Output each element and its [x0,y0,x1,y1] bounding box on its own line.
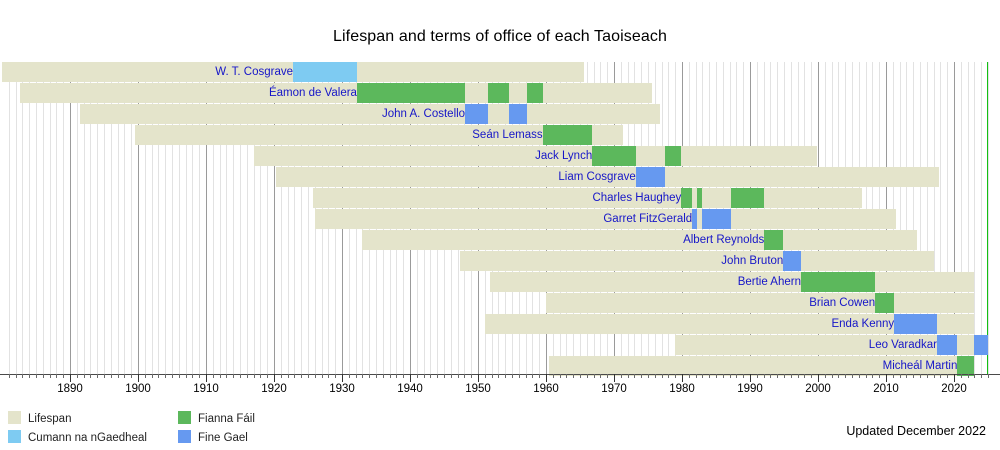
axis-tick-minor [267,374,268,378]
axis-tick-minor [872,374,873,378]
axis-tick-minor [526,374,527,378]
axis-tick-minor [458,374,459,378]
axis-tick-minor [655,374,656,378]
axis-tick-label: 1970 [594,383,634,395]
axis-tick-minor [668,374,669,378]
axis-tick-minor [553,374,554,378]
axis-tick-minor [757,374,758,378]
axis-tick-label: 1930 [322,383,362,395]
timeline-row[interactable]: Bertie Ahern [0,272,1000,292]
row-label: John A. Costello [0,106,468,122]
axis-tick-minor [498,374,499,378]
axis-tick-minor [50,374,51,378]
axis-tick-label: 1950 [458,383,498,395]
timeline-row[interactable]: John A. Costello [0,104,1000,124]
axis-tick-minor [866,374,867,378]
axis-tick-minor [696,374,697,378]
axis-tick-minor [369,374,370,378]
axis-tick-minor [730,374,731,378]
axis-tick-minor [662,374,663,378]
axis-tick-minor [192,374,193,378]
axis-tick-label: 1890 [50,383,90,395]
axis-tick-minor [308,374,309,378]
axis-tick-minor [430,374,431,378]
axis-tick-minor [451,374,452,378]
timeline-row[interactable]: Éamon de Valera [0,83,1000,103]
axis-tick-minor [913,374,914,378]
axis-tick-major [886,374,887,382]
axis-tick-minor [968,374,969,378]
axis-tick-minor [784,374,785,378]
row-label: W. T. Cosgrave [0,64,296,80]
axis-tick-major [546,374,547,382]
axis-tick-minor [16,374,17,378]
axis-tick-minor [22,374,23,378]
legend-label: Lifespan [28,412,71,427]
axis-tick-minor [186,374,187,378]
axis-tick-label: 2020 [934,383,974,395]
axis-tick-minor [492,374,493,378]
axis-tick-minor [770,374,771,378]
term-of-office-bar[interactable] [636,167,665,187]
axis-tick-minor [9,374,10,378]
legend-label: Fine Gael [198,431,248,446]
legend-swatch-icon [178,411,191,424]
axis-tick-minor [152,374,153,378]
axis-tick-minor [512,374,513,378]
axis-tick-minor [43,374,44,378]
axis-tick-label: 1980 [662,383,702,395]
term-of-office-bar[interactable] [702,209,731,229]
axis-tick-minor [213,374,214,378]
legend-label: Cumann na nGaedheal [28,431,147,446]
axis-tick-minor [532,374,533,378]
row-label: Jack Lynch [0,148,595,164]
x-axis: 1890190019101920193019401950196019701980… [0,374,1000,400]
axis-tick-minor [417,374,418,378]
axis-tick-minor [63,374,64,378]
axis-tick-minor [56,374,57,378]
axis-tick-minor [403,374,404,378]
axis-tick-minor [172,374,173,378]
axis-tick-minor [97,374,98,378]
timeline-row[interactable]: Charles Haughey [0,188,1000,208]
axis-tick-minor [111,374,112,378]
term-of-office-bar[interactable] [465,104,488,124]
term-of-office-bar[interactable] [357,83,465,103]
timeline-row[interactable]: Enda Kenny [0,314,1000,334]
timeline-row[interactable]: Garret FitzGerald [0,209,1000,229]
axis-tick-minor [634,374,635,378]
axis-tick-minor [927,374,928,378]
row-label: Éamon de Valera [0,85,360,101]
axis-tick-minor [254,374,255,378]
axis-tick-minor [600,374,601,378]
axis-tick-minor [934,374,935,378]
axis-tick-minor [335,374,336,378]
legend-swatch-icon [8,411,21,424]
axis-tick-minor [947,374,948,378]
row-label: John Bruton [0,253,786,269]
timeline-row[interactable]: Liam Cosgrave [0,167,1000,187]
axis-tick-minor [464,374,465,378]
axis-tick-minor [689,374,690,378]
axis-tick-major [206,374,207,382]
axis-tick-major [138,374,139,382]
axis-tick-minor [981,374,982,378]
axis-tick-minor [940,374,941,378]
row-label: Garret FitzGerald [0,211,695,227]
axis-tick-minor [199,374,200,378]
axis-tick-minor [104,374,105,378]
axis-tick-minor [29,374,30,378]
axis-tick-minor [906,374,907,378]
row-label: Seán Lemass [0,127,546,143]
axis-tick-minor [798,374,799,378]
axis-tick-minor [396,374,397,378]
term-of-office-bar[interactable] [894,314,937,334]
axis-tick-minor [852,374,853,378]
axis-tick-minor [220,374,221,378]
axis-tick-minor [124,374,125,378]
axis-tick-minor [84,374,85,378]
axis-tick-minor [723,374,724,378]
axis-tick-minor [90,374,91,378]
row-label: Charles Haughey [0,190,684,206]
axis-tick-major [954,374,955,382]
legend-swatch-icon [8,430,21,443]
axis-tick-minor [519,374,520,378]
axis-tick-label: 1940 [390,383,430,395]
row-label: Liam Cosgrave [0,169,639,185]
axis-tick-minor [804,374,805,378]
axis-tick-minor [879,374,880,378]
term-of-office-bar[interactable] [801,272,875,292]
plot-area: W. T. CosgraveÉamon de ValeraJohn A. Cos… [0,62,1000,374]
axis-tick-minor [424,374,425,378]
axis-tick-minor [179,374,180,378]
axis-tick-label: 1910 [186,383,226,395]
axis-tick-minor [240,374,241,378]
axis-tick-minor [961,374,962,378]
legend-entry-cng[interactable]: Cumann na nGaedheal [8,429,147,444]
row-label: Leo Varadkar [0,337,940,353]
axis-tick-minor [328,374,329,378]
term-of-office-bar[interactable] [665,146,681,166]
term-of-office-bar[interactable] [488,83,508,103]
axis-tick-minor [716,374,717,378]
axis-tick-minor [36,374,37,378]
axis-tick-minor [573,374,574,378]
axis-tick-major [70,374,71,382]
axis-tick-minor [988,374,989,378]
timeline-row[interactable]: Seán Lemass [0,125,1000,145]
term-of-office-bar[interactable] [543,125,593,145]
axis-tick-minor [383,374,384,378]
axis-tick-minor [791,374,792,378]
term-of-office-bar[interactable] [527,83,543,103]
timeline-row[interactable]: Brian Cowen [0,293,1000,313]
legend: LifespanCumann na nGaedhealFianna FáilFi… [8,410,428,446]
term-of-office-bar[interactable] [974,335,988,355]
axis-tick-minor [825,374,826,378]
axis-tick-minor [709,374,710,378]
axis-tick-major [342,374,343,382]
axis-tick-major [274,374,275,382]
timeline-row[interactable]: Micheál Martin [0,356,1000,376]
axis-tick-minor [777,374,778,378]
axis-tick-minor [444,374,445,378]
axis-tick-minor [607,374,608,378]
axis-tick-minor [641,374,642,378]
axis-tick-minor [900,374,901,378]
axis-tick-minor [77,374,78,378]
axis-tick-label: 1920 [254,383,294,395]
timeline-row[interactable]: Jack Lynch [0,146,1000,166]
axis-tick-minor [390,374,391,378]
axis-tick-label: 2000 [798,383,838,395]
axis-tick-minor [702,374,703,378]
axis-tick-minor [281,374,282,378]
axis-tick-minor [648,374,649,378]
axis-tick-minor [165,374,166,378]
term-of-office-bar[interactable] [731,188,764,208]
legend-entry-lifespan[interactable]: Lifespan [8,410,71,425]
axis-tick-minor [315,374,316,378]
axis-tick-minor [260,374,261,378]
axis-tick-minor [838,374,839,378]
axis-tick-minor [505,374,506,378]
axis-tick-minor [376,374,377,378]
legend-label: Fianna Fáil [198,412,255,427]
axis-tick-label: 1990 [730,383,770,395]
axis-tick-minor [158,374,159,378]
timeline-row[interactable]: John Bruton [0,251,1000,271]
axis-tick-minor [539,374,540,378]
row-label: Albert Reynolds [0,232,767,248]
axis-tick-minor [247,374,248,378]
axis-tick-minor [131,374,132,378]
term-of-office-bar[interactable] [592,146,636,166]
page-title: Lifespan and terms of office of each Tao… [0,28,1000,46]
axis-tick-minor [628,374,629,378]
axis-tick-minor [362,374,363,378]
axis-tick-minor [580,374,581,378]
axis-tick-minor [587,374,588,378]
axis-tick-minor [594,374,595,378]
term-of-office-bar[interactable] [509,104,527,124]
axis-line [0,374,1000,375]
timeline-row[interactable]: Leo Varadkar [0,335,1000,355]
legend-entry-ff[interactable]: Fianna Fáil [178,410,255,425]
axis-tick-major [410,374,411,382]
term-of-office-bar[interactable] [937,335,957,355]
axis-tick-minor [845,374,846,378]
axis-tick-minor [233,374,234,378]
axis-tick-minor [471,374,472,378]
axis-tick-minor [118,374,119,378]
axis-tick-minor [294,374,295,378]
axis-tick-minor [349,374,350,378]
axis-tick-major [818,374,819,382]
axis-tick-label: 2010 [866,383,906,395]
axis-tick-minor [743,374,744,378]
row-label: Brian Cowen [0,295,878,311]
axis-tick-minor [566,374,567,378]
axis-tick-major [682,374,683,382]
taoiseach-timeline-chart: Lifespan and terms of office of each Tao… [0,0,1000,450]
axis-tick-minor [560,374,561,378]
axis-tick-major [614,374,615,382]
axis-tick-minor [288,374,289,378]
legend-entry-fg[interactable]: Fine Gael [178,429,248,444]
timeline-row[interactable]: W. T. Cosgrave [0,62,1000,82]
axis-tick-minor [356,374,357,378]
term-of-office-bar[interactable] [697,188,702,208]
axis-tick-label: 1900 [118,383,158,395]
axis-tick-minor [736,374,737,378]
row-label: Bertie Ahern [0,274,804,290]
axis-tick-minor [859,374,860,378]
updated-note: Updated December 2022 [846,424,986,438]
axis-tick-minor [226,374,227,378]
row-label: Micheál Martin [0,358,960,374]
axis-tick-minor [437,374,438,378]
legend-swatch-icon [178,430,191,443]
axis-tick-minor [675,374,676,378]
axis-tick-major [478,374,479,382]
axis-tick-minor [974,374,975,378]
axis-tick-major [750,374,751,382]
axis-tick-minor [811,374,812,378]
axis-tick-minor [832,374,833,378]
axis-tick-minor [621,374,622,378]
axis-tick-minor [485,374,486,378]
row-label: Enda Kenny [0,316,897,332]
axis-tick-minor [145,374,146,378]
axis-tick-label: 1960 [526,383,566,395]
timeline-row[interactable]: Albert Reynolds [0,230,1000,250]
axis-tick-minor [322,374,323,378]
axis-tick-minor [893,374,894,378]
axis-tick-minor [301,374,302,378]
axis-tick-minor [920,374,921,378]
axis-tick-minor [764,374,765,378]
term-of-office-bar[interactable] [293,62,357,82]
